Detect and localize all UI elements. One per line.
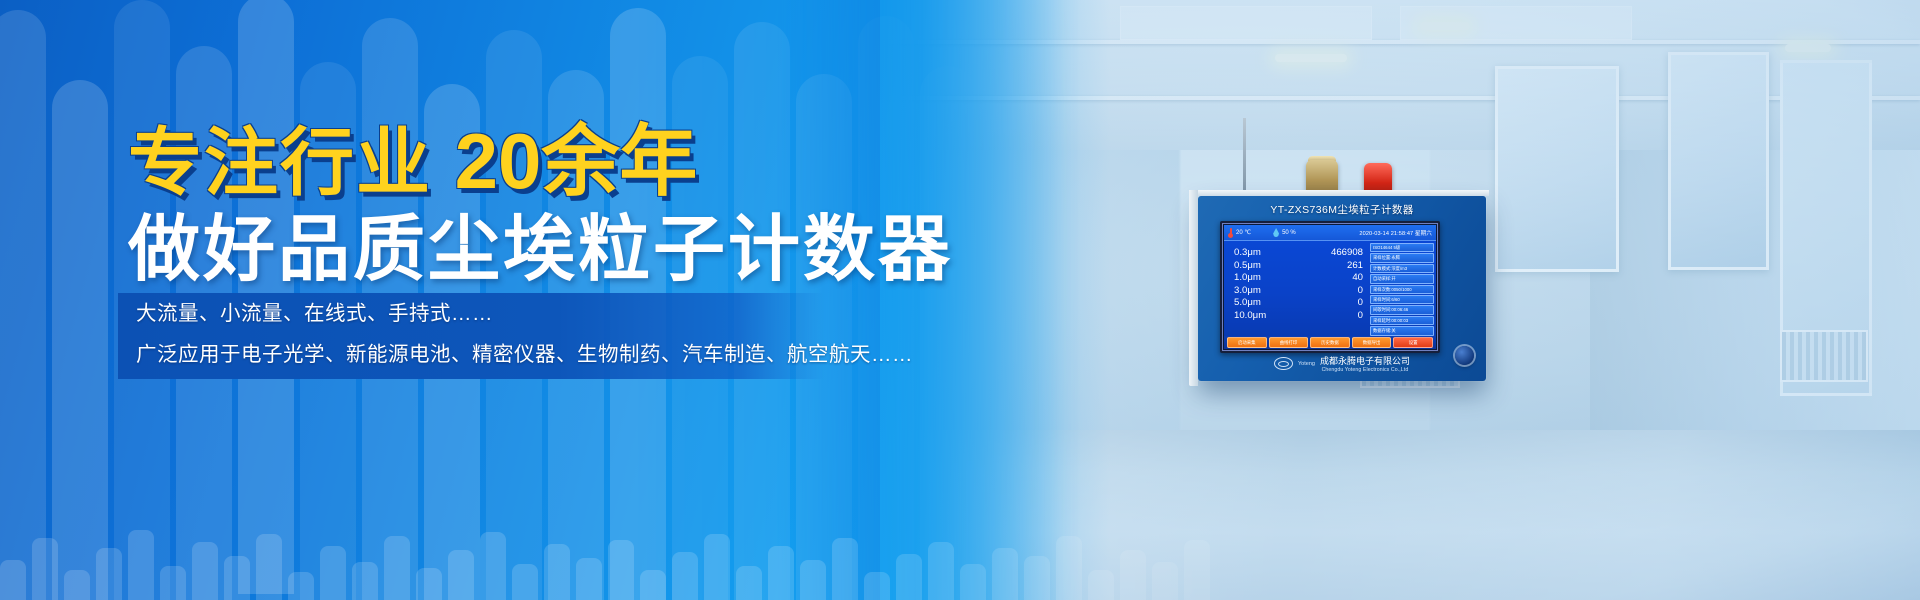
- deco-bottom-bar: [480, 532, 506, 600]
- device-model-label: YT-ZXS736M尘埃粒子计数器: [1198, 202, 1486, 217]
- bottom-bar-pattern: [0, 522, 1920, 600]
- device-bezel-left: [1189, 190, 1198, 386]
- humidity-value: 50 %: [1282, 230, 1296, 236]
- list-item: 数据存储:关: [1370, 326, 1434, 335]
- curve-print-button[interactable]: 曲线打印: [1269, 337, 1309, 348]
- list-item: ISO14644 5级: [1370, 243, 1434, 252]
- list-item: 采样延时:00:00:03: [1370, 316, 1434, 325]
- headline-text: 专注行业: [128, 121, 455, 204]
- list-item: 计数模式:浓度/m3: [1370, 264, 1434, 273]
- deco-bottom-bar: [704, 534, 730, 600]
- deco-bottom-bar: [992, 548, 1018, 600]
- headline-number: 20余年: [455, 117, 698, 205]
- particle-count: 466908: [1331, 247, 1363, 260]
- brand-company: 成都永腾电子有限公司 Chengdu Yoteng Electronics Co…: [1320, 354, 1410, 373]
- deco-bottom-bar: [736, 566, 762, 600]
- thermometer-icon: [1228, 228, 1233, 238]
- deco-bottom-bar: [448, 550, 474, 600]
- deco-bottom-bar: [512, 564, 538, 600]
- deco-bottom-bar: [960, 564, 986, 600]
- start-sampling-button[interactable]: 启动采集: [1227, 337, 1267, 348]
- table-row: 10.0μm 0: [1234, 310, 1363, 323]
- deco-bottom-bar: [864, 572, 890, 600]
- history-data-button[interactable]: 历史数据: [1310, 337, 1350, 348]
- particle-count: 40: [1352, 272, 1363, 285]
- particle-size: 5.0μm: [1234, 297, 1261, 310]
- table-row: 1.0μm 40: [1234, 272, 1363, 285]
- deco-bottom-bar: [352, 562, 378, 600]
- deco-bottom-bar: [832, 538, 858, 600]
- deco-bottom-bar: [768, 546, 794, 600]
- list-item: 采样位置:永腾: [1370, 253, 1434, 262]
- table-row: 5.0μm 0: [1234, 297, 1363, 310]
- table-row: 3.0μm 0: [1234, 285, 1363, 298]
- settings-button[interactable]: 设置: [1393, 337, 1433, 348]
- banner-stage: 专注行业 20余年 做好品质尘埃粒子计数器 大流量、小流量、在线式、手持式…… …: [0, 0, 1920, 600]
- feature-line-2: 广泛应用于电子光学、新能源电池、精密仪器、生物制药、汽车制造、航空航天……: [118, 334, 824, 375]
- particle-size: 1.0μm: [1234, 272, 1261, 285]
- lcd-button-bar: 启动采集 曲线打印 历史数据 数据导出 设置: [1224, 336, 1436, 349]
- datetime-readout: 2020-03-14 21:58:47 星期六: [1359, 229, 1432, 237]
- lcd-screen: 20 ℃ 50 % 2020-03-14 21:58:47 星期六 0.3μm …: [1224, 225, 1436, 349]
- temperature-readout: 20 ℃: [1228, 228, 1251, 238]
- deco-bottom-bar: [384, 536, 410, 600]
- deco-bottom-bar: [576, 558, 602, 600]
- deco-bottom-bar: [128, 530, 154, 600]
- humidity-readout: 50 %: [1273, 228, 1296, 237]
- deco-bottom-bar: [1184, 540, 1210, 600]
- lcd-status-bar: 20 ℃ 50 % 2020-03-14 21:58:47 星期六: [1224, 225, 1436, 241]
- deco-bottom-bar: [1024, 556, 1050, 600]
- page-subtitle: 做好品质尘埃粒子计数器: [128, 214, 953, 286]
- deco-bottom-bar: [672, 552, 698, 600]
- deco-bar: [858, 16, 914, 600]
- particle-count: 0: [1358, 285, 1363, 298]
- deco-bottom-bar: [64, 570, 90, 600]
- table-row: 0.5μm 261: [1234, 260, 1363, 273]
- deco-bottom-bar: [192, 542, 218, 600]
- particle-size: 3.0μm: [1234, 285, 1261, 298]
- deco-bottom-bar: [640, 570, 666, 600]
- deco-bottom-bar: [288, 572, 314, 600]
- temperature-value: 20 ℃: [1236, 229, 1251, 236]
- particle-size: 0.3μm: [1234, 247, 1261, 260]
- deco-bar: [982, 30, 1038, 600]
- lcd-info-panel: ISO14644 5级 采样位置:永腾 计数模式:浓度/m3 自动采样:开 采样…: [1369, 241, 1436, 349]
- water-drop-icon: [1273, 228, 1279, 237]
- particle-size: 10.0μm: [1234, 310, 1266, 323]
- deco-bar: [0, 10, 46, 600]
- deco-bottom-bar: [1056, 536, 1082, 600]
- deco-bottom-bar: [0, 560, 26, 600]
- deco-bottom-bar: [896, 554, 922, 600]
- device-bezel-top: [1189, 190, 1489, 196]
- list-item: 间歇时间:00:06:46: [1370, 305, 1434, 314]
- page-title: 专注行业 20余年: [128, 122, 697, 200]
- deco-bottom-bar: [1088, 570, 1114, 600]
- brand-company-en: Chengdu Yoteng Electronics Co.,Ltd: [1320, 367, 1410, 373]
- deco-bottom-bar: [320, 546, 346, 600]
- table-row: 0.3μm 466908: [1234, 247, 1363, 260]
- deco-bottom-bar: [224, 556, 250, 600]
- data-export-button[interactable]: 数据导出: [1352, 337, 1392, 348]
- deco-bottom-bar: [160, 566, 186, 600]
- list-item: 自动采样:开: [1370, 274, 1434, 283]
- device-lcd[interactable]: 20 ℃ 50 % 2020-03-14 21:58:47 星期六 0.3μm …: [1220, 221, 1440, 353]
- feature-strip: 大流量、小流量、在线式、手持式…… 广泛应用于电子光学、新能源电池、精密仪器、生…: [118, 293, 824, 379]
- particle-counter-device[interactable]: YT-ZXS736M尘埃粒子计数器 20 ℃ 50 % 2020-03-14 2…: [1198, 196, 1486, 381]
- deco-bottom-bar: [256, 534, 282, 600]
- deco-bottom-bar: [928, 542, 954, 600]
- particle-table: 0.3μm 466908 0.5μm 261 1.0μm 40 3.0μm: [1224, 241, 1369, 349]
- deco-bottom-bar: [1120, 550, 1146, 600]
- deco-bottom-bar: [544, 544, 570, 600]
- lcd-content: 0.3μm 466908 0.5μm 261 1.0μm 40 3.0μm: [1224, 241, 1436, 349]
- deco-bottom-bar: [96, 548, 122, 600]
- deco-bottom-bar: [1152, 562, 1178, 600]
- feature-line-1: 大流量、小流量、在线式、手持式……: [118, 293, 824, 334]
- deco-bottom-bar: [32, 538, 58, 600]
- particle-count: 0: [1358, 310, 1363, 323]
- deco-bottom-bar: [800, 560, 826, 600]
- deco-bottom-bar: [416, 568, 442, 600]
- brand-company-cn: 成都永腾电子有限公司: [1320, 356, 1410, 366]
- brand-mark-text: Yoteng: [1298, 361, 1315, 367]
- deco-bottom-bar: [608, 540, 634, 600]
- power-knob[interactable]: [1455, 346, 1474, 365]
- deco-bar: [920, 66, 976, 600]
- yoteng-logo-icon: [1274, 357, 1293, 370]
- list-item: 采样次数:0050/1000: [1370, 285, 1434, 294]
- device-brand: Yoteng 成都永腾电子有限公司 Chengdu Yoteng Electro…: [1198, 354, 1486, 373]
- particle-size: 0.5μm: [1234, 260, 1261, 273]
- list-item: 采样时间:6/60: [1370, 295, 1434, 304]
- device-antenna: [1243, 118, 1246, 196]
- particle-count: 0: [1358, 297, 1363, 310]
- particle-count: 261: [1347, 260, 1363, 273]
